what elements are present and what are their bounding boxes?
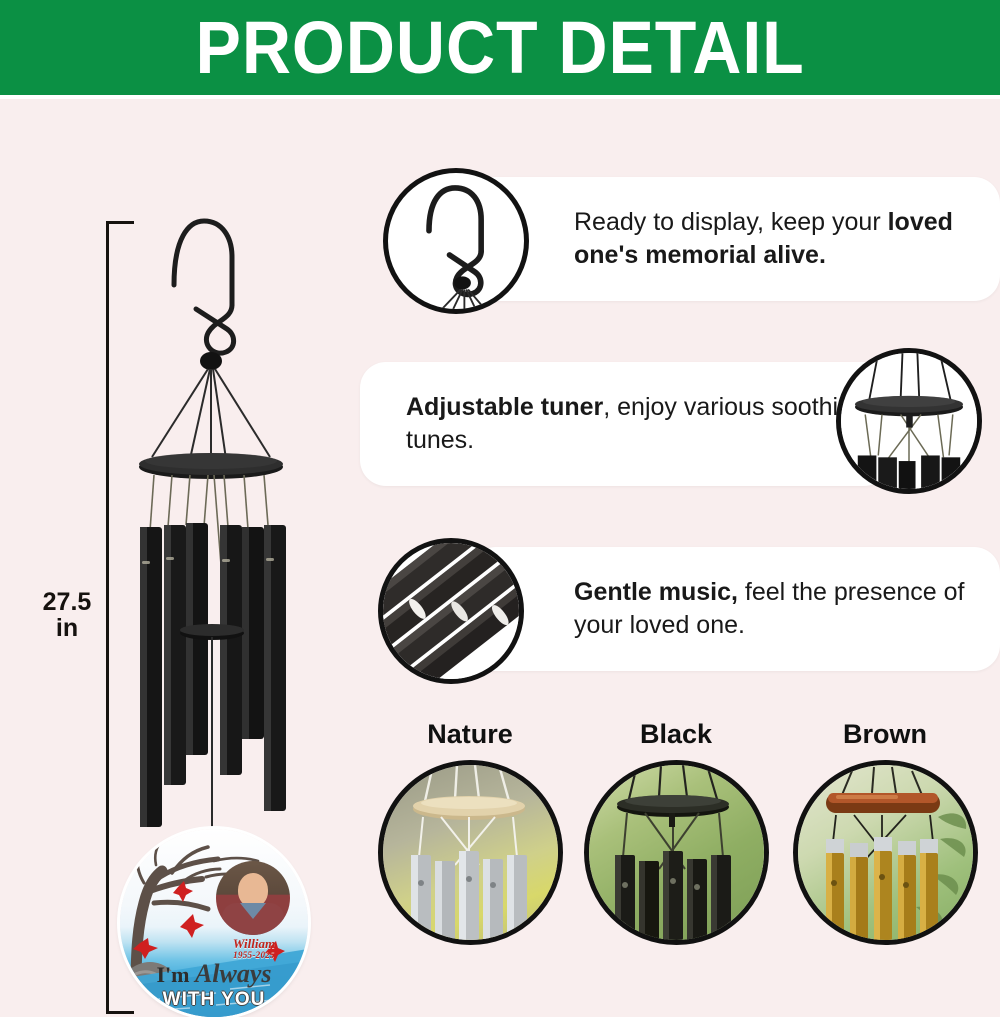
feature-text-bold: Gentle music,: [574, 578, 738, 606]
product-image-panel: 27.5 in: [0, 99, 350, 1000]
variant-black[interactable]: Black: [576, 719, 776, 945]
variant-image[interactable]: [378, 760, 563, 945]
feature-text: Ready to display, keep your loved one's …: [560, 206, 1000, 272]
memorial-name: William: [233, 936, 275, 951]
feature-card: Gentle music, feel the presence of your …: [470, 547, 1000, 671]
feature-ready-to-display: Ready to display, keep your loved one's …: [360, 159, 1000, 319]
features-panel: Ready to display, keep your loved one's …: [360, 99, 1000, 1000]
feature-text: Gentle music, feel the presence of your …: [560, 576, 1000, 642]
feature-text-regular: Ready to display, keep your: [574, 208, 888, 236]
s-hook-icon: [383, 168, 529, 314]
dimension-value: 27.5: [43, 588, 92, 616]
color-variants: Nature: [360, 719, 1000, 999]
dimension-tick-bottom: [106, 1011, 134, 1014]
variant-chime-nature: [383, 765, 558, 940]
variant-chime-black: [589, 765, 764, 940]
feature-card: Adjustable tuner, enjoy various soothing…: [360, 362, 890, 486]
variant-label: Nature: [370, 719, 570, 750]
feature-text: Adjustable tuner, enjoy various soothing…: [406, 391, 890, 457]
feature-adjustable-tuner: Adjustable tuner, enjoy various soothing…: [360, 344, 1000, 504]
memorial-quote: I'm Always WITH YOU: [134, 961, 294, 1011]
variant-label: Black: [576, 719, 776, 750]
dimension-label: 27.5 in: [34, 589, 100, 642]
feature-gentle-music: Gentle music, feel the presence of your …: [360, 529, 1000, 689]
dimension-line: [106, 221, 109, 1014]
page-header: PRODUCT DETAIL: [0, 0, 1000, 95]
quote-script-word: Always: [195, 959, 272, 988]
memorial-photo: [216, 861, 290, 935]
quote-prefix: I'm: [156, 962, 195, 987]
chime-tubes-icon: [378, 538, 524, 684]
feature-text-bold: Adjustable tuner: [406, 393, 603, 421]
product-detail-page: PRODUCT DETAIL 27.5 in: [0, 0, 1000, 1000]
variant-label: Brown: [785, 719, 985, 750]
variant-image[interactable]: [584, 760, 769, 945]
memorial-ornament: William 1955-2025 I'm Always WITH YOU: [120, 829, 308, 1017]
quote-line-2: WITH YOU: [134, 989, 294, 1011]
photo-face: [238, 873, 268, 907]
feature-card: Ready to display, keep your loved one's …: [470, 177, 1000, 301]
chime-tuner-icon: [836, 348, 982, 494]
variant-image[interactable]: [793, 760, 978, 945]
wind-chime-illustration: [128, 209, 318, 829]
dimension-unit: in: [34, 615, 100, 641]
variant-brown[interactable]: Brown: [785, 719, 985, 945]
ornament-scene: William 1955-2025 I'm Always WITH YOU: [120, 829, 308, 1017]
memorial-name-block: William 1955-2025: [210, 937, 298, 961]
variant-chime-brown: [798, 765, 973, 940]
quote-line-1: I'm Always: [134, 961, 294, 987]
page-title: PRODUCT DETAIL: [195, 11, 804, 85]
variant-nature[interactable]: Nature: [370, 719, 570, 945]
